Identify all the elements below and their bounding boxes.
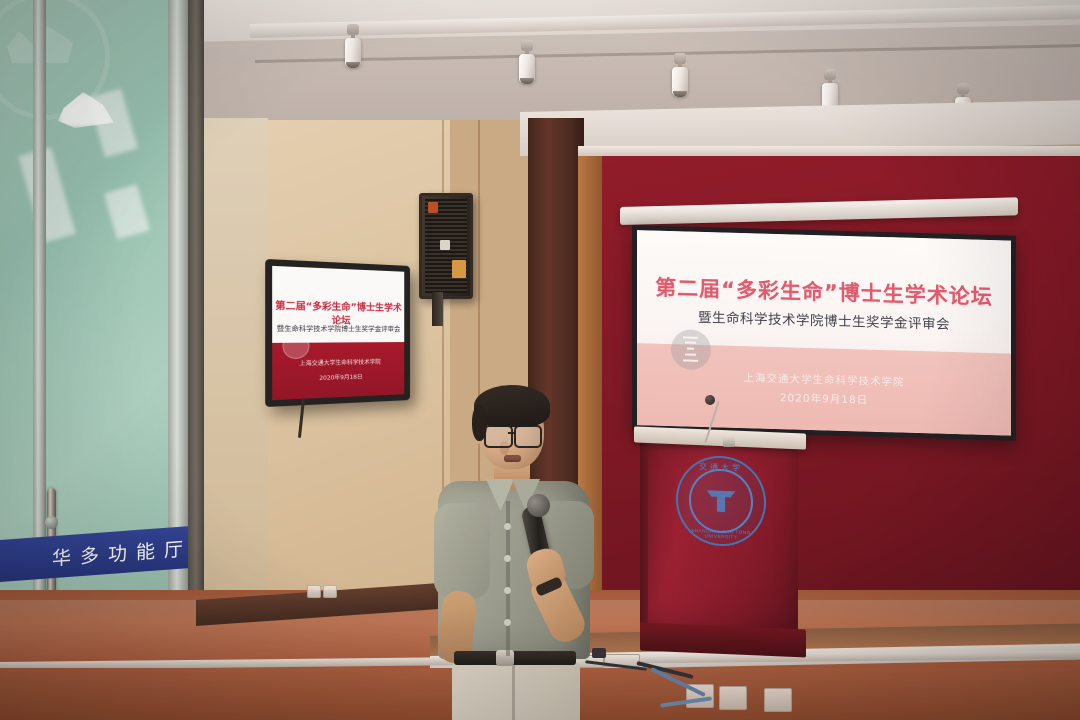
gooseneck-microphone-base [723,437,735,447]
speaker-badge-icon [440,240,450,250]
eyeglasses-right-lens [514,425,542,448]
floor-socket[interactable] [764,688,792,712]
speaker-person [432,383,602,720]
speaker-label-tag [452,260,466,278]
wall-socket[interactable] [307,585,321,598]
red-wall-top-moulding [578,146,1080,156]
trousers [452,663,580,720]
pa-speaker [419,193,473,299]
venue-sign-text: 华多功能厅 [52,533,192,570]
tv-slide-subtitle: 暨生命科学技术学院博士生奖学金评审会 [272,322,404,333]
mouth [504,455,521,462]
emblem-chinese-text: 交通大学 [678,460,764,474]
tv-screen: 第二届“多彩生命”博士生学术论坛 暨生命科学技术学院博士生奖学金评审会 上海交通… [272,266,404,400]
eyeglasses-left-lens [484,425,513,448]
dna-helix-icon [671,329,711,370]
slide-surface: 第二届“多彩生命”博士生学术论坛 暨生命科学技术学院博士生奖学金评审会 上海交通… [637,230,1011,435]
speaker-indicator-icon [428,202,438,213]
lectern-base [640,623,806,658]
belt [454,651,576,665]
wall-socket[interactable] [323,585,337,598]
belt-buckle [496,650,514,666]
wall-mounted-tv[interactable]: 第二届“多彩生命”博士生学术论坛 暨生命科学技术学院博士生奖学金评审会 上海交通… [265,259,410,407]
tv-dna-badge-icon [282,333,309,359]
projection-screen: 第二届“多彩生命”博士生学术论坛 暨生命科学技术学院博士生奖学金评审会 上海交通… [632,225,1016,441]
university-emblem-icon: 交通大学 SHANGHAI JIAO TONG UNIVERSITY [676,454,766,547]
ceiling-spotlight-icon [519,40,535,84]
ceiling-spotlight-icon [672,53,688,97]
ceiling-spotlight-icon [345,24,361,68]
lecture-hall-photo: 华多功能厅 第二届“多彩生命”博士生学术论坛 暨生命科学技术学院博士生奖学金评审… [0,0,1080,720]
left-sleeve [434,503,490,599]
floor-socket[interactable] [719,686,747,710]
gooseneck-microphone-capsule [705,395,715,405]
pa-speaker-bracket [432,292,443,326]
lectern: 交通大学 SHANGHAI JIAO TONG UNIVERSITY [640,430,800,670]
door-handle-mount [45,516,58,529]
